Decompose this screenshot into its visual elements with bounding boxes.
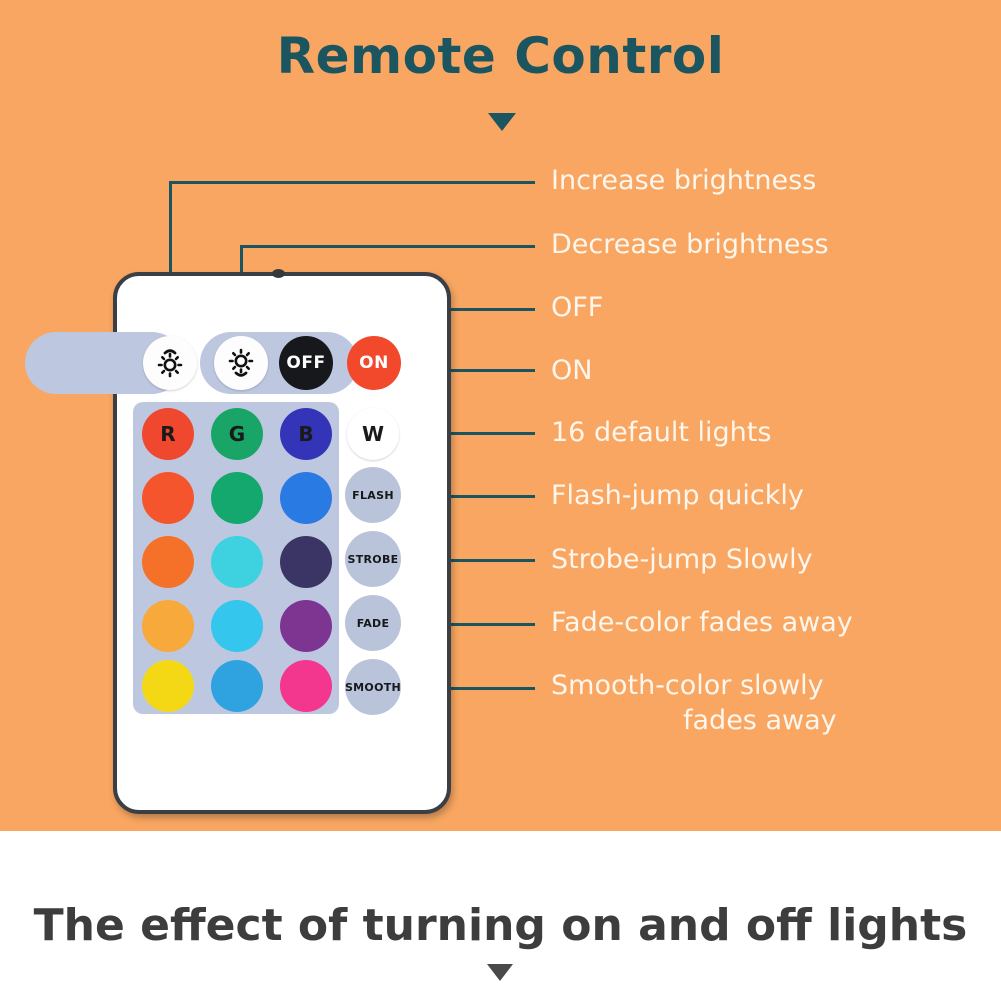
callout-increase-brightness: Increase brightness [551, 164, 816, 198]
smooth-button[interactable]: SMOOTH [345, 659, 401, 715]
leader-line-decrease-brightness-horizontal [240, 245, 535, 248]
on-button[interactable]: ON [347, 336, 401, 390]
callout-fade: Fade-color fades away [551, 606, 853, 640]
color-button-r5c1[interactable] [142, 660, 194, 712]
ir-emitter-dot [272, 269, 285, 278]
caret-down-icon [488, 113, 516, 131]
flash-button[interactable]: FLASH [345, 467, 401, 523]
callout-strobe: Strobe-jump Slowly [551, 543, 813, 577]
color-button-r[interactable]: R [142, 408, 194, 460]
callout-off: OFF [551, 291, 603, 325]
bottom-band: The effect of turning on and off lights [0, 831, 1001, 1001]
callout-flash: Flash-jump quickly [551, 479, 804, 513]
color-button-r3c1[interactable] [142, 536, 194, 588]
strobe-button[interactable]: STROBE [345, 531, 401, 587]
color-button-r4c2[interactable] [211, 600, 263, 652]
color-button-r3c2[interactable] [211, 536, 263, 588]
color-button-r2c2[interactable] [211, 472, 263, 524]
page-root: Remote Control [0, 0, 1001, 1001]
sun-down-icon [223, 345, 259, 381]
color-button-r5c3[interactable] [280, 660, 332, 712]
page-title: Remote Control [0, 30, 1001, 83]
color-button-r4c1[interactable] [142, 600, 194, 652]
callout-decrease-brightness: Decrease brightness [551, 228, 829, 262]
color-button-w[interactable]: W [347, 408, 399, 460]
color-button-r4c3[interactable] [280, 600, 332, 652]
color-button-r5c2[interactable] [211, 660, 263, 712]
color-button-b[interactable]: B [280, 408, 332, 460]
callout-default-lights: 16 default lights [551, 416, 771, 450]
color-button-r2c3[interactable] [280, 472, 332, 524]
increase-brightness-button[interactable] [143, 336, 197, 390]
footer-title: The effect of turning on and off lights [0, 900, 1001, 951]
orange-background-panel: Remote Control [0, 0, 1001, 831]
color-button-g[interactable]: G [211, 408, 263, 460]
fade-button[interactable]: FADE [345, 595, 401, 651]
callout-on: ON [551, 354, 592, 388]
color-button-r3c3[interactable] [280, 536, 332, 588]
decrease-brightness-button[interactable] [214, 336, 268, 390]
off-button[interactable]: OFF [279, 336, 333, 390]
leader-line-increase-brightness-horizontal [169, 181, 535, 184]
callout-smooth: Smooth-color slowly [551, 669, 824, 703]
sun-up-icon [152, 345, 188, 381]
caret-down-icon-footer [487, 964, 513, 981]
color-button-r2c1[interactable] [142, 472, 194, 524]
callout-smooth-line2: fades away [683, 704, 837, 738]
